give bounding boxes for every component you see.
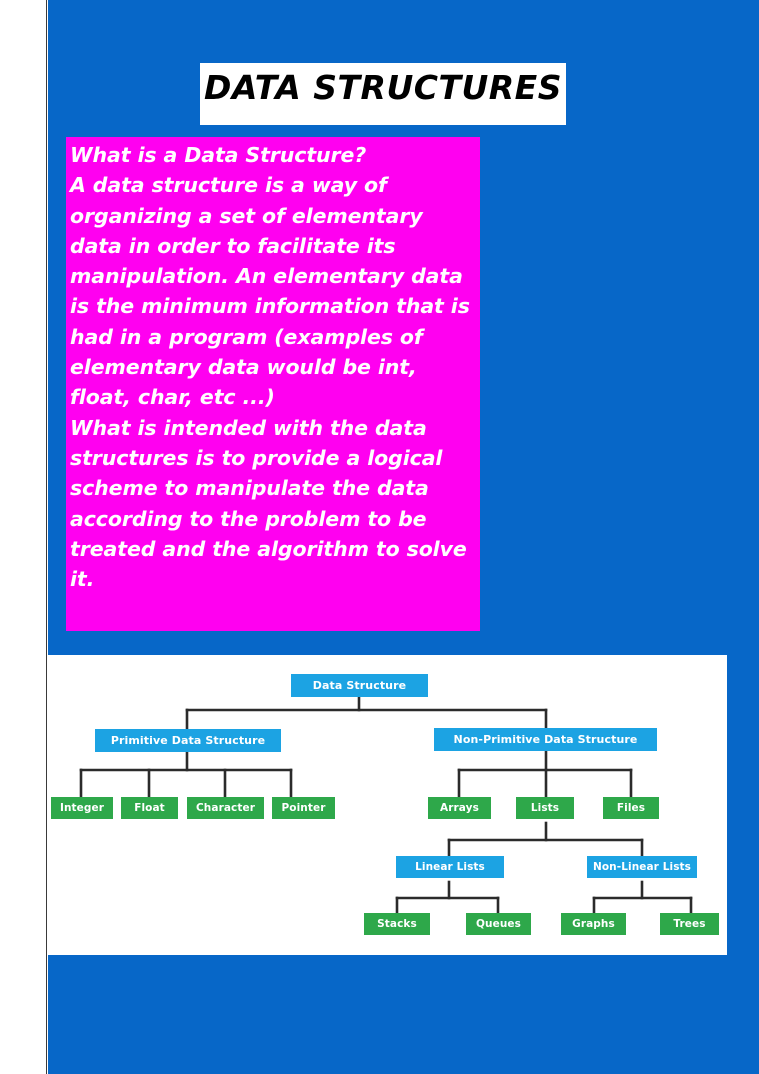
definition-paragraph-1: A data structure is a way of organizing … — [66, 170, 480, 412]
tree-node-trees[interactable]: Trees — [660, 913, 719, 935]
page-title: DATA STRUCTURES — [204, 63, 562, 109]
tree-node-primitive-data-structure[interactable]: Primitive Data Structure — [95, 729, 281, 752]
tree-node-linear-lists[interactable]: Linear Lists — [396, 856, 504, 878]
definition-paragraph-2: What is intended with the data structure… — [66, 413, 480, 595]
tree-node-stacks[interactable]: Stacks — [364, 913, 430, 935]
title-box: DATA STRUCTURES — [200, 63, 566, 125]
tree-node-non-linear-lists[interactable]: Non-Linear Lists — [587, 856, 697, 878]
tree-node-files[interactable]: Files — [603, 797, 659, 819]
definition-box: What is a Data Structure? A data structu… — [66, 137, 480, 631]
tree-node-arrays[interactable]: Arrays — [428, 797, 491, 819]
slide-root: DATA STRUCTURES What is a Data Structure… — [0, 0, 759, 1074]
tree-node-character[interactable]: Character — [187, 797, 264, 819]
tree-node-data-structure[interactable]: Data Structure — [291, 674, 428, 697]
left-margin-strip — [0, 0, 47, 1074]
tree-node-integer[interactable]: Integer — [51, 797, 113, 819]
tree-node-non-primitive-data-structure[interactable]: Non-Primitive Data Structure — [434, 728, 657, 751]
tree-node-lists[interactable]: Lists — [516, 797, 574, 819]
tree-node-graphs[interactable]: Graphs — [561, 913, 626, 935]
tree-node-pointer[interactable]: Pointer — [272, 797, 335, 819]
tree-node-queues[interactable]: Queues — [466, 913, 531, 935]
tree-node-float[interactable]: Float — [121, 797, 178, 819]
definition-heading: What is a Data Structure? — [66, 140, 480, 170]
data-structure-tree-diagram: Data Structure Primitive Data Structure … — [48, 655, 727, 955]
